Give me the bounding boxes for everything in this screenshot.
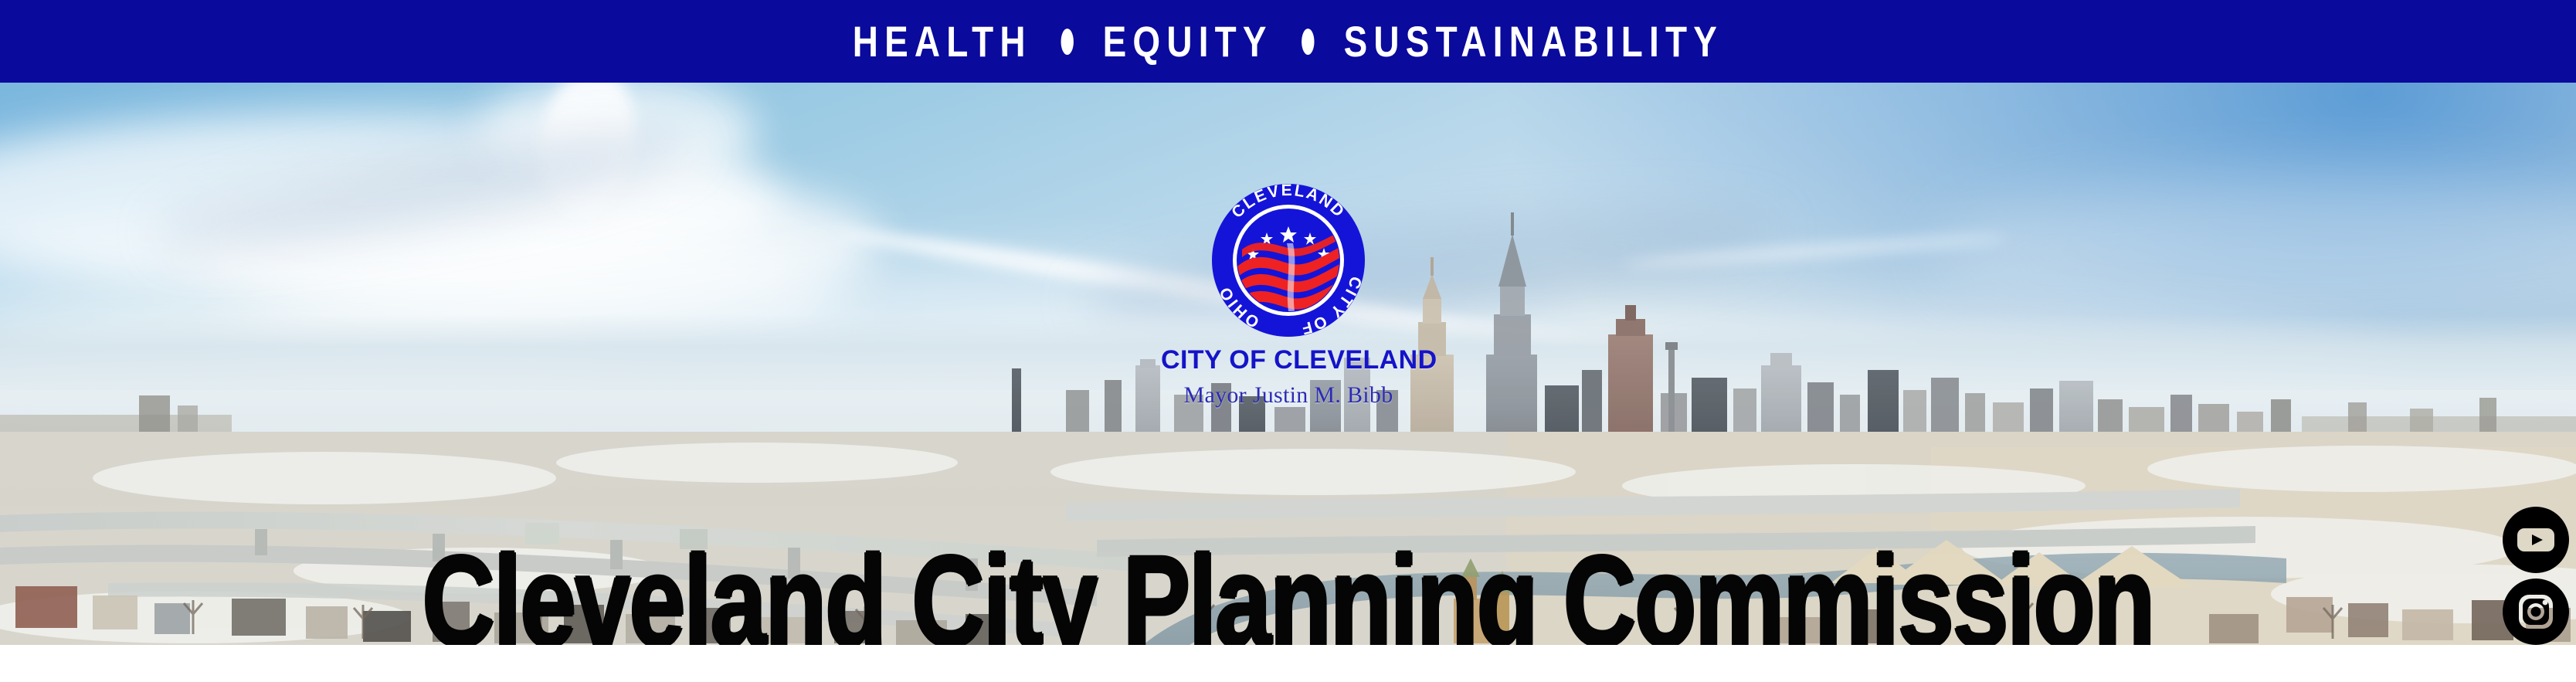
city-logo-block: CLEVELAND CITY OF OHIO <box>1161 183 1416 409</box>
social-links-rail <box>2500 507 2571 645</box>
tagline-banner: HEALTH EQUITY SUSTAINABILITY <box>0 0 2576 83</box>
instagram-icon <box>2503 579 2569 645</box>
social-link-youtube[interactable] <box>2503 507 2569 573</box>
page-title: Cleveland City Planning Commission <box>52 537 2525 645</box>
mayor-name-text: Mayor Justin M. Bibb <box>1161 382 1416 409</box>
tagline-text: HEALTH EQUITY SUSTAINABILITY <box>853 16 1723 66</box>
hero-banner-photo: CLEVELAND CITY OF OHIO <box>0 83 2576 645</box>
tagline-word-health: HEALTH <box>853 16 1032 66</box>
page-root: HEALTH EQUITY SUSTAINABILITY <box>0 0 2576 682</box>
tagline-word-sustainability: SUSTAINABILITY <box>1344 16 1724 66</box>
city-wordmark: CITY OF CLEVELAND <box>1161 345 1416 375</box>
tagline-separator-dot-2 <box>1302 29 1315 55</box>
social-link-instagram[interactable] <box>2503 579 2569 645</box>
tagline-separator-dot-1 <box>1061 29 1074 55</box>
tagline-word-equity: EQUITY <box>1103 16 1273 66</box>
youtube-icon <box>2503 507 2569 573</box>
city-of-cleveland-ohio-seal-icon: CLEVELAND CITY OF OHIO <box>1211 183 1366 338</box>
